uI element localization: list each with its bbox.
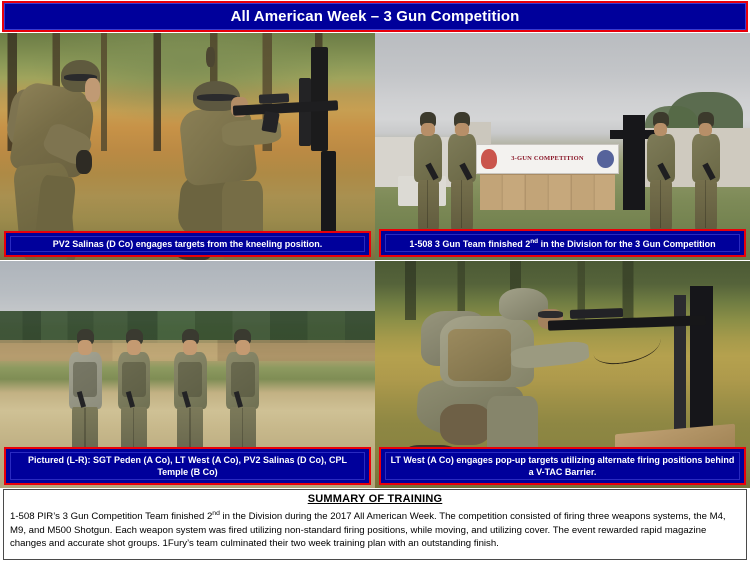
photo-caption-inner: LT West (A Co) engages pop-up targets ut… [385, 452, 740, 480]
soldier-torso [647, 134, 675, 182]
photo-caption-inner: 1-508 3 Gun Team finished 2nd in the Div… [385, 234, 740, 252]
soldier-figure [413, 112, 445, 232]
photo-cell-bottom-right[interactable]: LT West (A Co) engages pop-up targets ut… [375, 261, 750, 488]
soldier-torso [692, 134, 720, 182]
soldier-face [455, 123, 468, 136]
soldier-face [236, 340, 250, 355]
soldier-legs [418, 180, 440, 233]
soldier-torso [448, 134, 476, 182]
competition-banner: 3-GUN COMPETITION [476, 144, 619, 174]
caption-ordinal-suffix: nd [530, 238, 538, 245]
soldier-legs [650, 180, 672, 233]
page-title: All American Week – 3 Gun Competition [231, 8, 520, 25]
summary-ordinal-suffix: nd [212, 510, 220, 517]
photo-caption-top-left: PV2 Salinas (D Co) engages targets from … [4, 231, 371, 257]
soldier-torso [414, 134, 442, 182]
v-tac-barrier [623, 115, 646, 210]
knee-pad [440, 404, 491, 445]
soldier-figure [645, 112, 677, 232]
summary-body: 1-508 PIR’s 3 Gun Competition Team finis… [10, 507, 740, 550]
soldier-figure [116, 329, 152, 465]
soldier-figure [68, 329, 104, 465]
soldier-figure [446, 112, 478, 232]
photo-caption-inner: PV2 Salinas (D Co) engages targets from … [10, 236, 365, 252]
photo-caption-inner: Pictured (L-R): SGT Peden (A Co), LT Wes… [10, 452, 365, 480]
rifle-sling [591, 328, 661, 367]
soldier-face [421, 123, 434, 136]
summary-body-part1: 1-508 PIR’s 3 Gun Competition Team finis… [10, 511, 212, 522]
soldier-legs [695, 180, 717, 233]
soldier-figure [225, 329, 261, 465]
photo-kneeling-engagement [0, 33, 375, 260]
photo-cell-top-right[interactable]: 3-GUN COMPETITION [375, 33, 750, 260]
rifle-magazine [261, 111, 279, 134]
soldier-face [127, 340, 141, 355]
background-figure [206, 47, 214, 67]
soldier-face [699, 123, 712, 136]
goggles-icon [538, 311, 563, 318]
soldier-figure [173, 329, 209, 465]
caption-text: Pictured (L-R): SGT Peden (A Co), LT Wes… [28, 455, 347, 477]
slide-page: All American Week – 3 Gun Competition [0, 0, 750, 563]
caption-text-prefix: 1-508 3 Gun Team finished 2 [409, 239, 530, 249]
soldier-glove [76, 150, 93, 174]
photo-grid: PV2 Salinas (D Co) engages targets from … [0, 33, 750, 488]
soldier-legs [451, 180, 473, 233]
photo-cell-bottom-left[interactable]: Pictured (L-R): SGT Peden (A Co), LT Wes… [0, 261, 375, 488]
caption-text: LT West (A Co) engages pop-up targets ut… [391, 455, 735, 477]
soldier-face [78, 340, 92, 355]
target-post-icon [311, 47, 328, 151]
caption-text: PV2 Salinas (D Co) engages targets from … [53, 239, 323, 249]
soldier-face [654, 123, 667, 136]
cardboard-target-boxes [480, 174, 615, 210]
soldier-figure [690, 112, 722, 232]
caption-text-suffix: in the Division for the 3 Gun Competitio… [538, 239, 716, 249]
tactical-vest [448, 329, 510, 381]
summary-title: SUMMARY OF TRAINING [10, 493, 740, 505]
soldier-face [85, 78, 101, 102]
photo-caption-bottom-right: LT West (A Co) engages pop-up targets ut… [379, 447, 746, 485]
slide-title-inner: All American Week – 3 Gun Competition [4, 3, 746, 30]
summary-of-training-box: SUMMARY OF TRAINING 1-508 PIR’s 3 Gun Co… [3, 489, 747, 560]
target-post-icon [299, 78, 311, 146]
slide-title-bar: All American Week – 3 Gun Competition [2, 1, 748, 32]
soldier-face [183, 340, 197, 355]
photo-caption-top-right: 1-508 3 Gun Team finished 2nd in the Div… [379, 229, 746, 257]
rifle-optic [570, 308, 623, 319]
photo-cell-top-left[interactable]: PV2 Salinas (D Co) engages targets from … [0, 33, 375, 260]
photo-caption-bottom-left: Pictured (L-R): SGT Peden (A Co), LT Wes… [4, 447, 371, 485]
photo-team-with-banner: 3-GUN COMPETITION [375, 33, 750, 260]
banner-title: 3-GUN COMPETITION [511, 156, 584, 162]
